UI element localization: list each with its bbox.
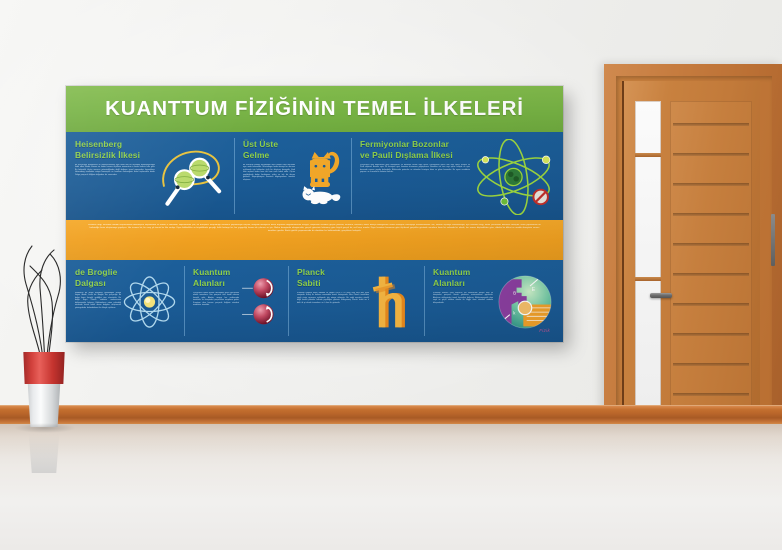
room-scene: KUANTTUM FİZİĞİNİN TEMEL İLKELERİ Heisen… [0, 0, 782, 550]
upper-panel-row: Heisenberg Belirsizlik İlkesi Bir parçac… [66, 132, 563, 220]
door[interactable] [604, 64, 782, 412]
panel-heading: Üst Üste Gelme [243, 139, 295, 161]
panel-body-text: Kuantum fiziğinin temel sabitidir ve değ… [297, 292, 369, 305]
svg-text:B: B [513, 290, 516, 295]
panel-heading: Heisenberg Belirsizlik İlkesi [75, 139, 155, 161]
orange-band-text: Kuantum fiziği, kesinlikle madde oluşumu… [88, 224, 541, 233]
door-hinge [771, 214, 775, 266]
panel-superposition[interactable]: Üst Üste Gelme Bir kuantum sistemi ölçül… [234, 132, 351, 220]
pauli-forbidden-icon [533, 190, 548, 205]
baseboard [0, 405, 782, 425]
vase-collar [22, 352, 66, 384]
page-title: KUANTTUM FİZİĞİNİN TEMEL İLKELERİ [105, 97, 524, 121]
poster-header-band: KUANTTUM FİZİĞİNİN TEMEL İLKELERİ [66, 86, 563, 132]
panel-body-text: Bir kuantum sistemi ölçülmeden önce bird… [243, 164, 295, 182]
floor-reflection [0, 424, 782, 550]
panel-heading: Kuantum Alanları [193, 267, 239, 289]
panel-body-text: Parçacıklar spin değerlerine göre fermiy… [360, 164, 470, 174]
orange-summary-band: Kuantum fiziği, kesinlikle madde oluşumu… [66, 220, 563, 260]
panel-heading: Kuantum Alanları [433, 267, 493, 289]
canvas-print-poster[interactable]: KUANTTUM FİZİĞİNİN TEMEL İLKELERİ Heisen… [66, 86, 563, 342]
art-atom-orbits [470, 139, 557, 215]
branches-icon [8, 240, 84, 370]
door-glass-divider [635, 153, 661, 157]
art-h-bar-glyph [369, 267, 418, 337]
art-two-spin-spheres [239, 267, 282, 337]
door-glass-divider [635, 277, 661, 281]
panel-heading: Planck Sabiti [297, 267, 369, 289]
door-leaf[interactable] [622, 81, 760, 412]
panel-body-text: Bir parçacığın konumunun ve momentumunun… [75, 164, 155, 177]
panel-quantum-fields-spheres[interactable]: Kuantum Alanları Parçacıklar temel alanl… [184, 260, 288, 342]
art-standing-wave-star [121, 267, 178, 337]
cat-alive-icon [310, 152, 339, 187]
panel-body-text: Kuantum alanları uzay zamanın her noktas… [433, 292, 493, 305]
panel-heading: Fermiyonlar Bozonlar ve Pauli Dışlama İl… [360, 139, 470, 161]
panel-planck-constant[interactable]: Planck Sabiti Kuantum fiziğinin temel sa… [288, 260, 424, 342]
panel-body-text: Parçacıklar temel alanlar üzerindeki yer… [193, 292, 239, 307]
panel-heisenberg[interactable]: Heisenberg Belirsizlik İlkesi Bir parçac… [66, 132, 234, 220]
panel-quantum-fields-disc[interactable]: Kuantum Alanları Kuantum alanları uzay z… [424, 260, 563, 342]
art-magnifying-glasses-orbit [155, 139, 228, 215]
lower-panel-row: de Broglie Dalgası Maddenin de dalga öze… [66, 260, 563, 342]
door-glass-panel [635, 101, 661, 412]
artist-signature: Fizik [539, 328, 550, 333]
art-schrodinger-cats [295, 139, 345, 215]
art-field-disc-diagram: E B k Fizik [493, 267, 557, 337]
door-slat-panel [670, 101, 752, 412]
planck-hbar-symbol [373, 277, 405, 328]
vase-reflection [26, 427, 62, 473]
decor-vase[interactable] [8, 240, 84, 430]
panel-fermions-bosons[interactable]: Fermiyonlar Bozonlar ve Pauli Dışlama İl… [351, 132, 563, 220]
door-handle[interactable] [650, 293, 672, 298]
